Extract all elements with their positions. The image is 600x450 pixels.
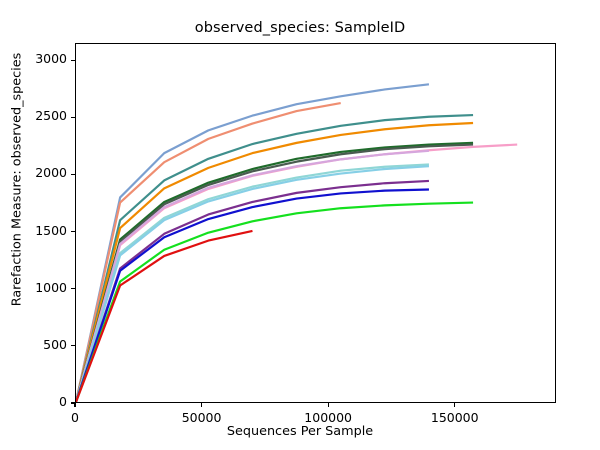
x-tick-mark bbox=[201, 403, 202, 407]
x-tick-mark bbox=[328, 403, 329, 407]
y-tick-mark bbox=[71, 288, 75, 289]
x-axis-label: Sequences Per Sample bbox=[0, 424, 600, 439]
rarefaction-chart-figure: observed_species: SampleID 0500100015002… bbox=[0, 0, 600, 450]
x-tick-label: 0 bbox=[25, 410, 125, 425]
x-tick-mark bbox=[454, 403, 455, 407]
x-tick-label: 150000 bbox=[405, 410, 505, 425]
line-sample-purple bbox=[76, 181, 429, 402]
x-tick-mark bbox=[74, 403, 75, 407]
y-tick-mark bbox=[71, 60, 75, 61]
plot-area bbox=[75, 43, 556, 403]
y-tick-mark bbox=[71, 345, 75, 346]
y-axis-label: Rarefaction Measure: observed_species bbox=[10, 0, 25, 375]
x-tick-label: 50000 bbox=[152, 410, 252, 425]
series-lines bbox=[76, 44, 555, 402]
y-tick-mark bbox=[71, 174, 75, 175]
y-tick-label: 0 bbox=[0, 394, 67, 409]
y-tick-mark bbox=[71, 117, 75, 118]
line-sample-lightcyan bbox=[76, 164, 429, 402]
chart-title: observed_species: SampleID bbox=[0, 20, 600, 36]
x-tick-label: 100000 bbox=[278, 410, 378, 425]
line-sample-steelblue bbox=[76, 84, 429, 402]
y-tick-mark bbox=[71, 231, 75, 232]
